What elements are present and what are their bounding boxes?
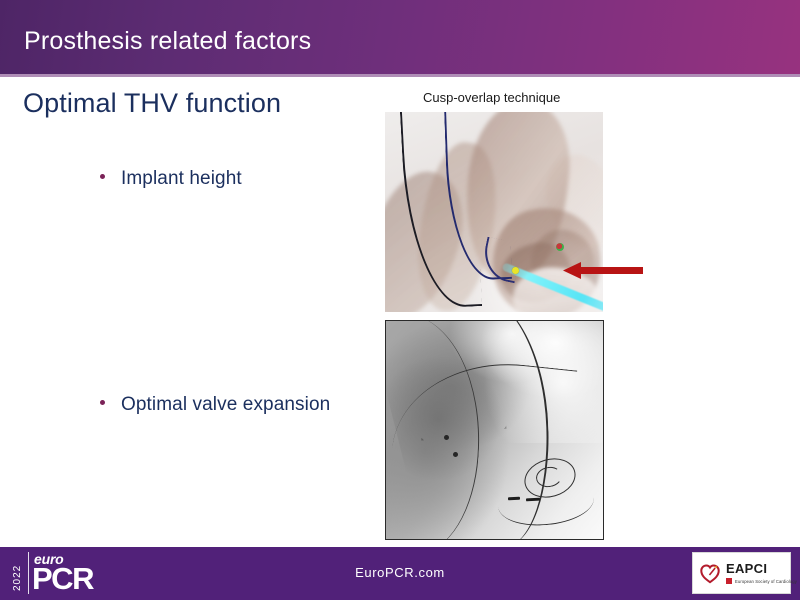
fluoroscopy-radiopaque-marker	[508, 497, 520, 501]
eapci-subtitle-label: European Society of Cardiology	[735, 579, 797, 584]
slide-title: Prosthesis related factors	[24, 27, 311, 56]
esc-square-icon	[726, 578, 732, 584]
eapci-subtitle-row: European Society of Cardiology	[726, 578, 797, 584]
bullet-label: Implant height	[121, 168, 242, 190]
fluoroscopy-dense-dot	[453, 452, 458, 457]
ct-marker-yellow-lower	[512, 267, 519, 274]
fluoroscopy-image	[385, 320, 604, 540]
eapci-text-block: EAPCI European Society of Cardiology	[726, 562, 797, 584]
bullet-label: Optimal valve expansion	[121, 394, 330, 416]
footer-website-url: EuroPCR.com	[0, 565, 800, 580]
figure-caption: Cusp-overlap technique	[423, 90, 560, 105]
content-heading: Optimal THV function	[23, 88, 281, 119]
bullet-item-implant-height: Implant height	[100, 168, 242, 190]
bullet-marker-icon	[100, 174, 105, 179]
header-underline	[0, 74, 800, 77]
bullet-item-valve-expansion: Optimal valve expansion	[100, 394, 330, 416]
ct-marker-green	[556, 243, 564, 251]
eapci-logo: EAPCI European Society of Cardiology	[692, 552, 791, 594]
red-arrow-annotation-icon	[563, 262, 643, 279]
ct-reconstruction-image	[385, 112, 603, 312]
eapci-heart-icon	[699, 562, 721, 584]
fluoroscopy-dense-dot	[444, 435, 449, 440]
slide: Prosthesis related factors Optimal THV f…	[0, 0, 800, 600]
bullet-marker-icon	[100, 400, 105, 405]
eapci-name-label: EAPCI	[726, 562, 797, 576]
